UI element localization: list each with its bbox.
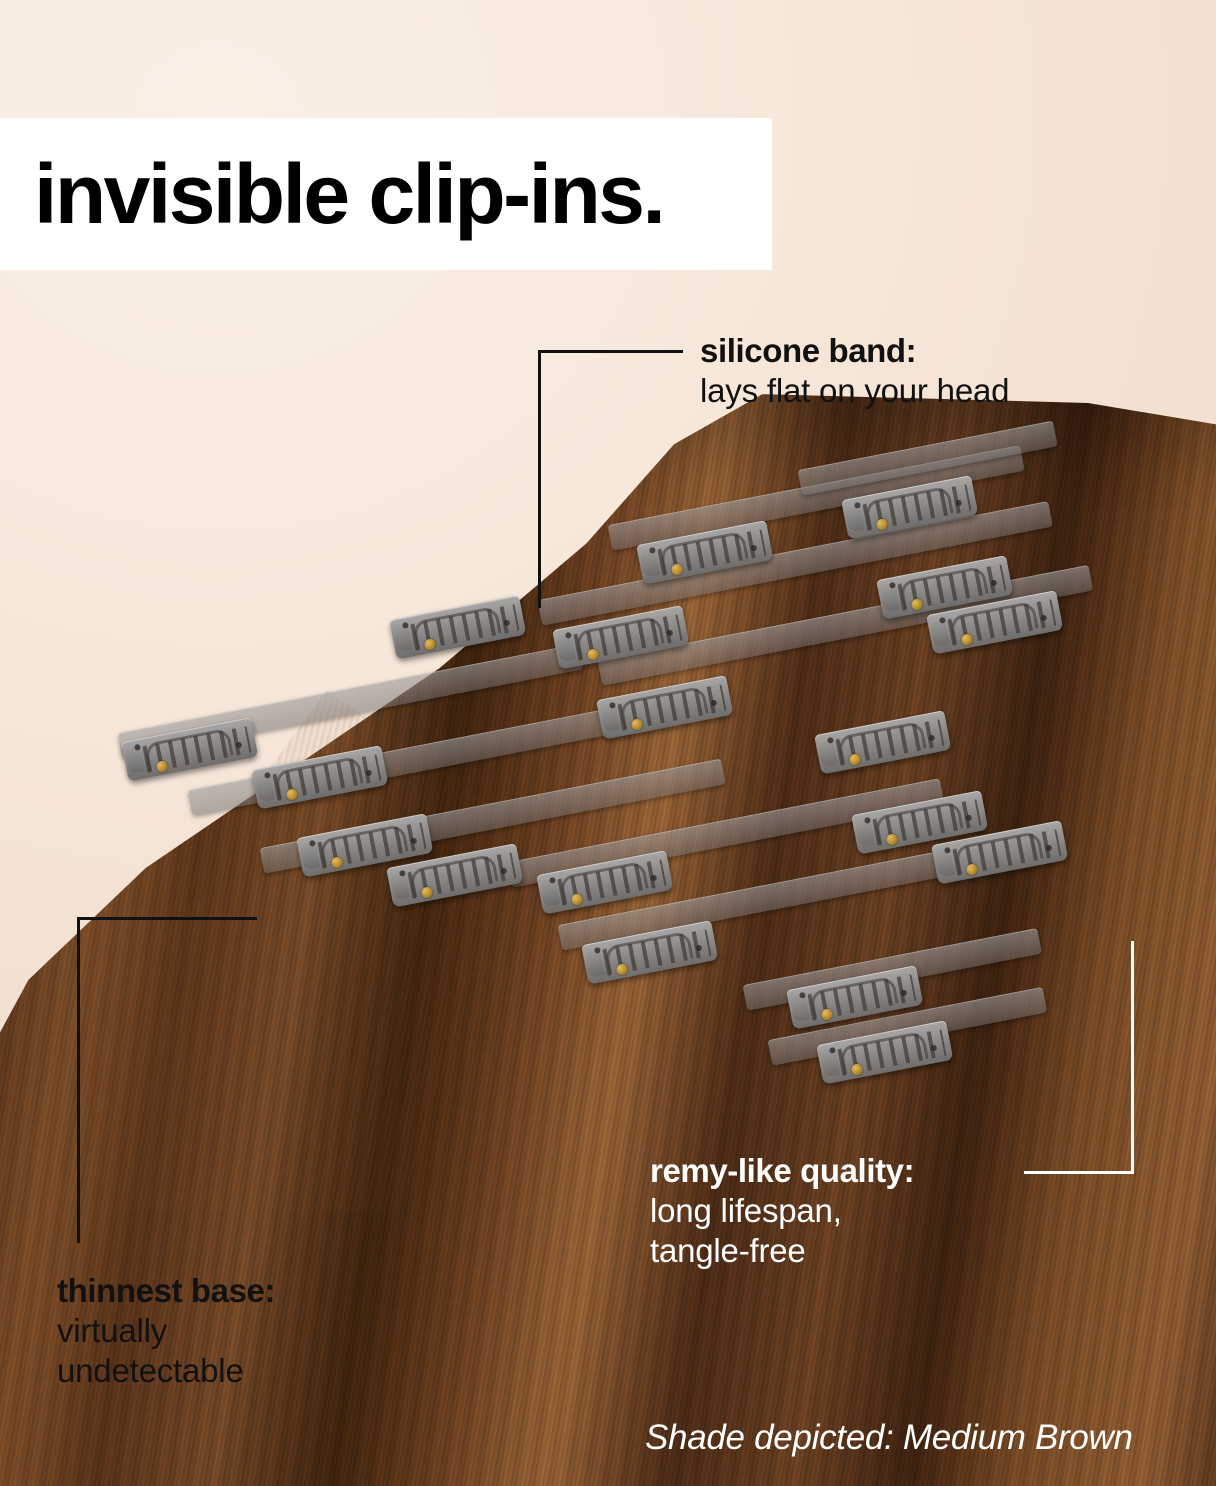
callout-heading: thinnest base: [57, 1272, 457, 1311]
callout-silicone-band: silicone band: lays flat on your head [700, 332, 1170, 411]
leader-horizontal-segment [77, 917, 257, 920]
callout-heading: remy-like quality: [650, 1152, 1070, 1191]
callout-remy-like-quality: remy-like quality: long lifespan, tangle… [650, 1152, 1070, 1270]
callout-body-line-2: undetectable [57, 1351, 457, 1391]
title-banner: invisible clip-ins. [0, 118, 772, 270]
leader-vertical-segment [1131, 941, 1134, 1174]
leader-line-thinnest-base [77, 917, 257, 1243]
page-title: invisible clip-ins. [0, 152, 663, 236]
callout-body-line-1: long lifespan, [650, 1191, 1070, 1231]
callout-thinnest-base: thinnest base: virtually undetectable [57, 1272, 457, 1390]
shade-caption: Shade depicted: Medium Brown [645, 1418, 1133, 1458]
leader-vertical-segment [538, 350, 541, 608]
leader-vertical-segment [77, 917, 80, 1243]
leader-line-remy-quality [1024, 941, 1134, 1174]
callout-body: lays flat on your head [700, 371, 1170, 411]
callout-heading: silicone band: [700, 332, 1170, 371]
callout-body-line-2: tangle-free [650, 1231, 1070, 1271]
callout-body-line-1: virtually [57, 1311, 457, 1351]
leader-horizontal-segment [538, 350, 683, 353]
infographic-canvas: invisible clip-ins. silicone band: lays … [0, 0, 1216, 1486]
leader-line-silicone-band [538, 350, 683, 608]
